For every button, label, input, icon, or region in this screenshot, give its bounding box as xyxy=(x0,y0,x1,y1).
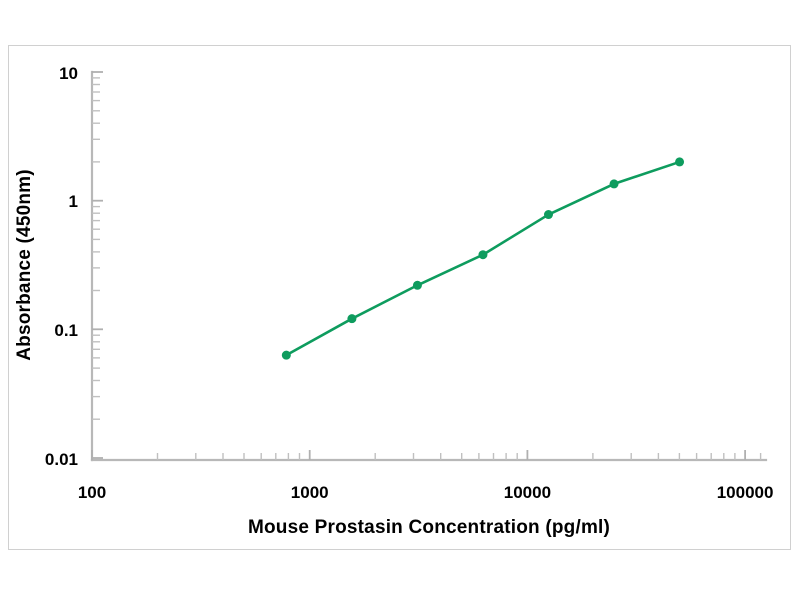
data-point xyxy=(610,179,619,188)
x-tick-labels: 100 1000 10000 100000 xyxy=(78,483,774,502)
y-axis-ticks xyxy=(92,72,103,458)
axes-group xyxy=(92,72,766,460)
y-tick-label-1: 1 xyxy=(69,192,78,211)
y-tick-label-0_01: 0.01 xyxy=(45,450,78,469)
data-point xyxy=(413,281,422,290)
x-tick-label-1000: 1000 xyxy=(291,483,329,502)
x-axis-ticks xyxy=(92,450,761,460)
x-axis-title: Mouse Prostasin Concentration (pg/ml) xyxy=(248,517,610,538)
x-tick-label-10000: 10000 xyxy=(504,483,551,502)
data-point xyxy=(478,250,487,259)
series-markers xyxy=(282,157,684,359)
figure-root: 10 1 0.1 0.01 100 1000 10000 100000 Mous… xyxy=(0,0,800,600)
data-point xyxy=(544,210,553,219)
data-series-group xyxy=(282,157,684,359)
y-tick-label-0_1: 0.1 xyxy=(54,321,78,340)
x-tick-label-100000: 100000 xyxy=(717,483,774,502)
y-tick-labels: 10 1 0.1 0.01 xyxy=(45,64,78,469)
data-point xyxy=(347,314,356,323)
data-point xyxy=(675,157,684,166)
data-point xyxy=(282,351,291,360)
x-tick-label-100: 100 xyxy=(78,483,106,502)
y-tick-label-10: 10 xyxy=(59,64,78,83)
y-axis-title: Absorbance (450nm) xyxy=(14,169,35,361)
chart-canvas: 10 1 0.1 0.01 100 1000 10000 100000 Mous… xyxy=(0,0,800,600)
